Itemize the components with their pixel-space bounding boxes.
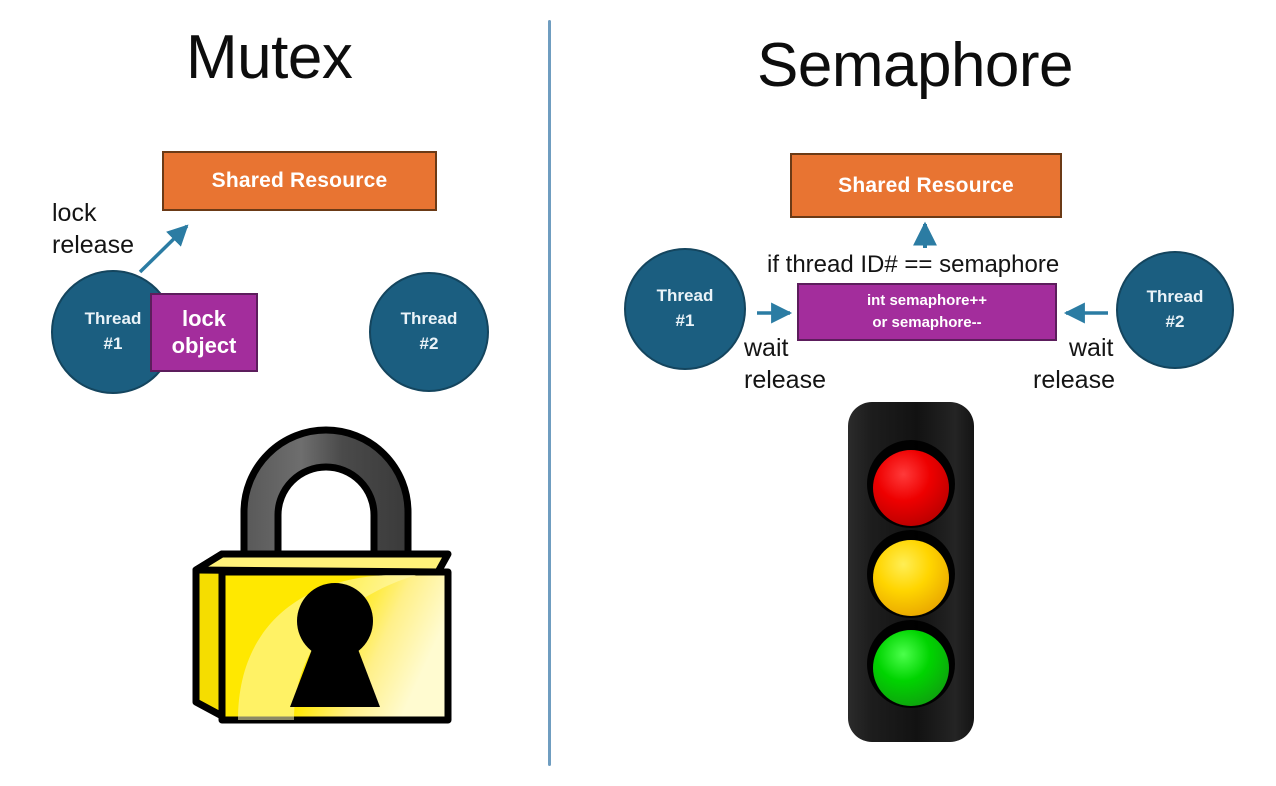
mutex-thread-2-line1: Thread: [401, 307, 458, 332]
traffic-light-red-lamp: [873, 450, 949, 526]
padlock-icon: [186, 420, 466, 735]
mutex-release-label: release: [52, 229, 134, 263]
semaphore-thread-1-circle: Thread #1: [624, 248, 746, 370]
semaphore-right-release-label: release: [1033, 364, 1115, 398]
mutex-thread-1-line1: Thread: [85, 307, 142, 332]
mutex-thread-2-line2: #2: [420, 332, 439, 357]
padlock-side-face: [196, 554, 222, 716]
traffic-light-icon: [842, 396, 984, 748]
semaphore-thread-1-line1: Thread: [657, 284, 714, 309]
mutex-shared-resource-label: Shared Resource: [212, 169, 388, 193]
semaphore-left-release-label: release: [744, 364, 826, 398]
mutex-lock-object-box: lock object: [150, 293, 258, 372]
semaphore-thread-2-line2: #2: [1166, 310, 1185, 335]
traffic-light-green-lamp: [873, 630, 949, 706]
mutex-lock-label: lock: [52, 197, 96, 231]
mutex-shared-resource-box: Shared Resource: [162, 151, 437, 211]
semaphore-right-wait-label: wait: [1069, 332, 1113, 366]
diagram-canvas: Mutex Shared Resource lock release Threa…: [0, 0, 1276, 786]
semaphore-thread-2-line1: Thread: [1147, 285, 1204, 310]
semaphore-counter-line1: int semaphore++: [867, 290, 987, 312]
semaphore-condition-label: if thread ID# == semaphore: [767, 249, 1059, 281]
semaphore-panel-title: Semaphore: [757, 30, 1073, 101]
vertical-divider: [548, 20, 551, 766]
semaphore-counter-box: int semaphore++ or semaphore--: [797, 283, 1057, 341]
semaphore-shared-resource-label: Shared Resource: [838, 174, 1014, 198]
mutex-lock-arrow: [140, 226, 187, 272]
mutex-lock-object-line1: lock: [182, 306, 226, 332]
mutex-thread-2-circle: Thread #2: [369, 272, 489, 392]
semaphore-left-wait-label: wait: [744, 332, 788, 366]
mutex-lock-object-line2: object: [172, 333, 237, 359]
mutex-panel-title: Mutex: [186, 22, 352, 93]
semaphore-counter-line2: or semaphore--: [872, 312, 981, 334]
semaphore-thread-1-line2: #1: [676, 309, 695, 334]
semaphore-shared-resource-box: Shared Resource: [790, 153, 1062, 218]
semaphore-thread-2-circle: Thread #2: [1116, 251, 1234, 369]
traffic-light-yellow-lamp: [873, 540, 949, 616]
mutex-thread-1-line2: #1: [104, 332, 123, 357]
